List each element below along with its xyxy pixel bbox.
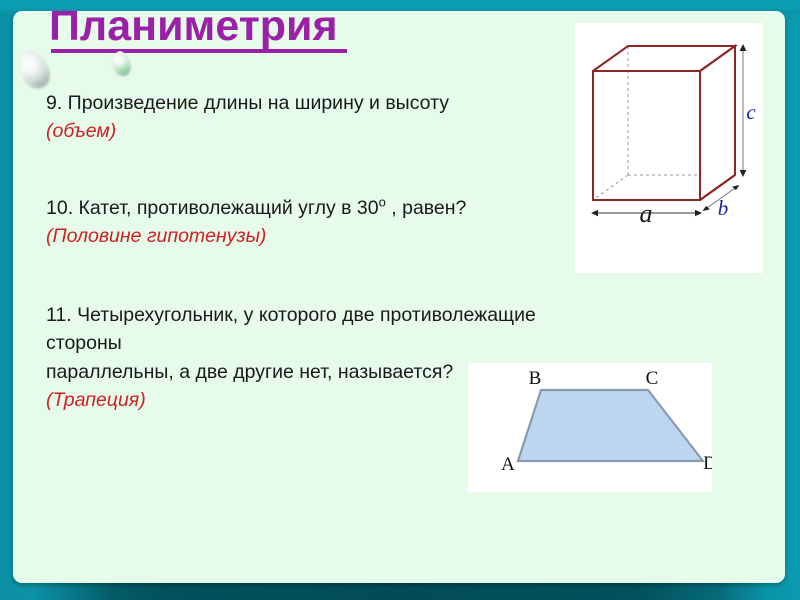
box-hidden-edges	[593, 46, 700, 200]
trapezoid-abcd-icon: A B C D	[468, 363, 712, 492]
question-11-text-line-1: 11. Четырехугольник, у которого две прот…	[46, 301, 606, 358]
trapezoid-shape	[518, 390, 703, 461]
box-label-depth: b	[718, 196, 729, 220]
box-visible-edges	[593, 46, 735, 200]
box-label-height: c	[746, 100, 756, 124]
trapezoid-vertex-c: C	[646, 368, 659, 389]
title-block: Планиметрия	[49, 11, 449, 48]
question-10-text: 10. Катет, противолежащий углу в 30о , р…	[46, 194, 556, 222]
box-label-width: a	[640, 199, 653, 228]
degree-symbol: о	[379, 195, 386, 210]
question-9-answer: (объем)	[46, 117, 556, 145]
page-title: Планиметрия	[49, 11, 449, 48]
box-figure-panel: c b a	[575, 23, 763, 273]
water-droplet-icon	[15, 46, 55, 92]
trapezoid-vertex-d: D	[703, 453, 712, 474]
question-10-text-before-degree: 10. Катет, противолежащий углу в 30	[46, 197, 379, 219]
rectangular-box-3d-icon: c b a	[575, 23, 763, 273]
question-9: 9. Произведение длины на ширину и высоту…	[46, 89, 556, 146]
water-droplet-green-icon	[110, 49, 133, 77]
trapezoid-vertex-b: B	[529, 368, 542, 389]
trapezoid-figure-panel: A B C D	[468, 363, 712, 492]
trapezoid-vertex-a: A	[501, 454, 515, 475]
slide-frame: Планиметрия 9. Произведение длины на шир…	[0, 0, 800, 600]
question-10: 10. Катет, противолежащий углу в 30о , р…	[46, 194, 556, 251]
question-10-answer: (Половине гипотенузы)	[46, 222, 556, 250]
question-9-text: 9. Произведение длины на ширину и высоту	[46, 89, 556, 117]
slide-content-card: Планиметрия 9. Произведение длины на шир…	[13, 11, 785, 583]
title-underline	[51, 49, 347, 53]
question-10-text-after-degree: , равен?	[386, 197, 467, 219]
